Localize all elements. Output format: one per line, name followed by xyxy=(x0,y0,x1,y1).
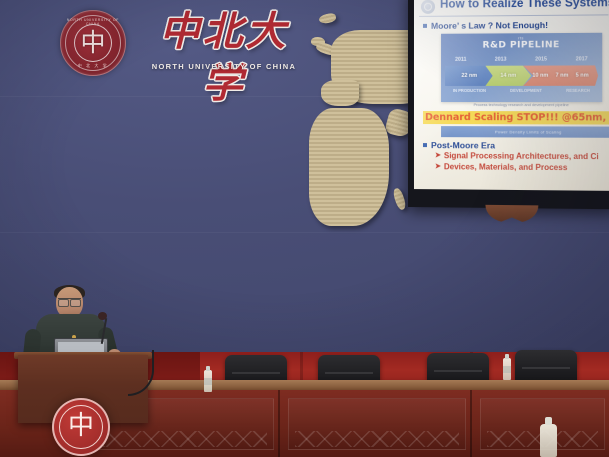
water-bottle-left[interactable] xyxy=(204,370,212,392)
eyeglasses-icon xyxy=(58,298,81,304)
bottle-label xyxy=(503,366,511,373)
lecture-hall-photo: NORTH UNIVERSITY OF CHINA 中 中 北 大 学 中北大学… xyxy=(0,0,609,457)
table-seam xyxy=(278,390,280,457)
water-bottle-right[interactable] xyxy=(540,424,557,457)
panel-zigzag-trim xyxy=(295,431,459,447)
table-panel xyxy=(288,398,466,450)
bottle-label xyxy=(204,378,212,385)
lectern-university-seal-icon: 中 xyxy=(52,398,110,456)
gooseneck-microphone[interactable] xyxy=(98,312,107,320)
table-seam xyxy=(470,390,472,457)
water-bottle-mid[interactable] xyxy=(503,358,511,380)
seal-glyph: 中 xyxy=(54,413,108,439)
panel-zigzag-trim xyxy=(103,431,267,447)
